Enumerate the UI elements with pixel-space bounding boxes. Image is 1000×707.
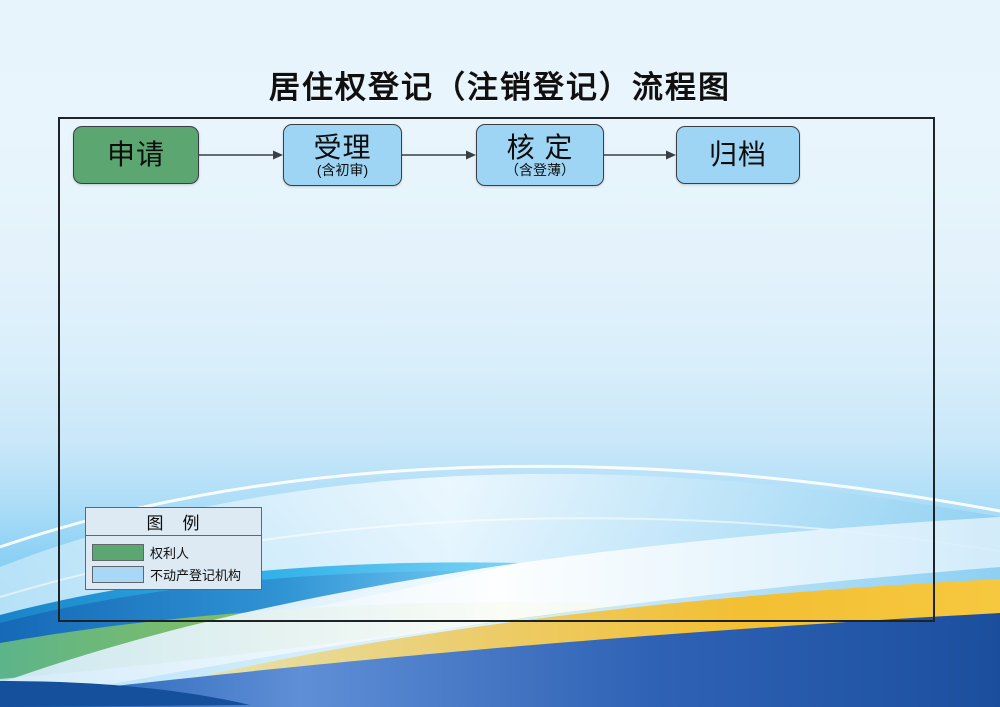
- page-title: 居住权登记（注销登记）流程图: [0, 62, 1000, 107]
- flow-arrow-verify-to-archive: [604, 149, 676, 161]
- flow-node-archive[interactable]: 归档: [676, 126, 800, 184]
- legend-items: 权利人 不动产登记机构: [86, 536, 261, 584]
- flowchart-poster: 居住权登记（注销登记）流程图 申请 受理 (含初审) 核 定 （含登薄）: [0, 0, 1000, 707]
- legend-label-rights-holder: 权利人: [150, 543, 189, 562]
- flow-node-apply-label: 申请: [107, 141, 165, 169]
- flow-node-archive-label: 归档: [709, 141, 767, 169]
- flow-node-verify-label: 核 定: [507, 134, 574, 162]
- flow-node-accept-sublabel: (含初审): [317, 163, 368, 177]
- flow-node-apply[interactable]: 申请: [73, 126, 199, 184]
- legend-item-rights-holder: 权利人: [92, 542, 261, 562]
- flow-node-verify[interactable]: 核 定 （含登薄）: [476, 124, 604, 186]
- legend-swatch-blue: [92, 566, 144, 583]
- flow-arrow-accept-to-verify: [402, 149, 476, 161]
- flow-node-verify-sublabel: （含登薄）: [505, 163, 575, 177]
- flow-arrow-apply-to-accept: [199, 149, 283, 161]
- legend-title: 图 例: [86, 508, 261, 536]
- legend-label-registration-agency: 不动产登记机构: [150, 565, 241, 584]
- flow-node-accept-label: 受理: [313, 134, 371, 162]
- legend-box: 图 例 权利人 不动产登记机构: [85, 507, 262, 590]
- flow-node-accept[interactable]: 受理 (含初审): [283, 124, 402, 186]
- legend-swatch-green: [92, 544, 144, 561]
- process-flow: 申请 受理 (含初审) 核 定 （含登薄）: [73, 124, 813, 186]
- legend-item-registration-agency: 不动产登记机构: [92, 564, 261, 584]
